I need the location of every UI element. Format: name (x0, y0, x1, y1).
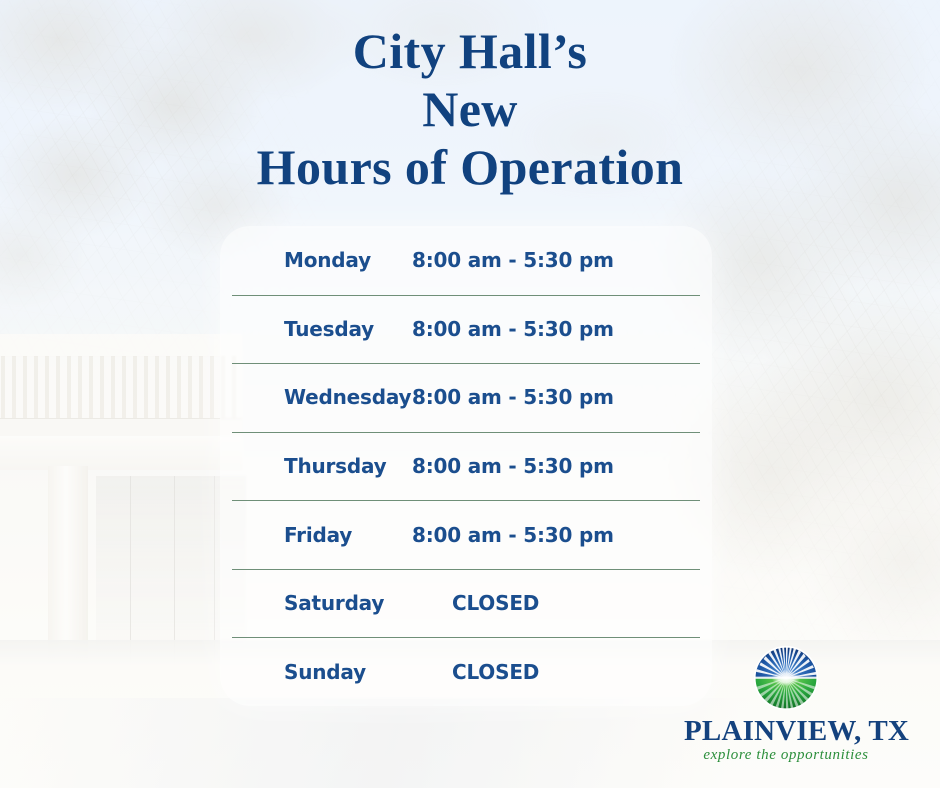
hours-row: Thursday8:00 am - 5:30 pm (228, 432, 704, 501)
hours-of-operation-poster: City Hall’s New Hours of Operation Monda… (0, 0, 940, 788)
page-title: City Hall’s New Hours of Operation (0, 26, 940, 192)
hours-row: Wednesday8:00 am - 5:30 pm (228, 363, 704, 432)
hours-row: SundayCLOSED (228, 637, 704, 706)
closed-badge: CLOSED (406, 660, 704, 684)
day-label: Thursday (228, 454, 406, 478)
building-roofline (0, 334, 242, 356)
hours-row: SaturdayCLOSED (228, 569, 704, 638)
hours-value: 8:00 am - 5:30 pm (406, 248, 704, 272)
building-mullion (174, 476, 175, 666)
hours-table: Monday8:00 am - 5:30 pmTuesday8:00 am - … (228, 226, 704, 706)
day-label: Sunday (228, 660, 406, 684)
building-mullion (214, 476, 215, 666)
city-logo: PLAINVIEW, TX explore the opportunities (684, 644, 888, 764)
building-mullion (130, 476, 131, 666)
building-soffit (0, 436, 242, 470)
hours-value: 8:00 am - 5:30 pm (406, 385, 704, 409)
title-line-3: Hours of Operation (0, 142, 940, 192)
hours-value: 8:00 am - 5:30 pm (406, 317, 704, 341)
building-column (48, 466, 88, 666)
closed-badge: CLOSED (406, 591, 704, 615)
hours-row: Monday8:00 am - 5:30 pm (228, 226, 704, 295)
logo-tagline: explore the opportunities (684, 747, 888, 764)
hours-card: Monday8:00 am - 5:30 pmTuesday8:00 am - … (220, 226, 712, 706)
day-label: Wednesday (228, 385, 406, 409)
day-label: Friday (228, 523, 406, 547)
day-label: Tuesday (228, 317, 406, 341)
building-cornice (0, 418, 242, 438)
hours-row: Friday8:00 am - 5:30 pm (228, 500, 704, 569)
day-label: Saturday (228, 591, 406, 615)
title-line-2: New (0, 84, 940, 134)
hours-value: 8:00 am - 5:30 pm (406, 523, 704, 547)
title-line-1: City Hall’s (0, 26, 940, 76)
plainview-sunburst-icon (752, 644, 820, 712)
building-balustrade (0, 356, 242, 418)
hours-value: 8:00 am - 5:30 pm (406, 454, 704, 478)
logo-wordmark: PLAINVIEW, TX (684, 716, 888, 746)
day-label: Monday (228, 248, 406, 272)
hours-row: Tuesday8:00 am - 5:30 pm (228, 295, 704, 364)
